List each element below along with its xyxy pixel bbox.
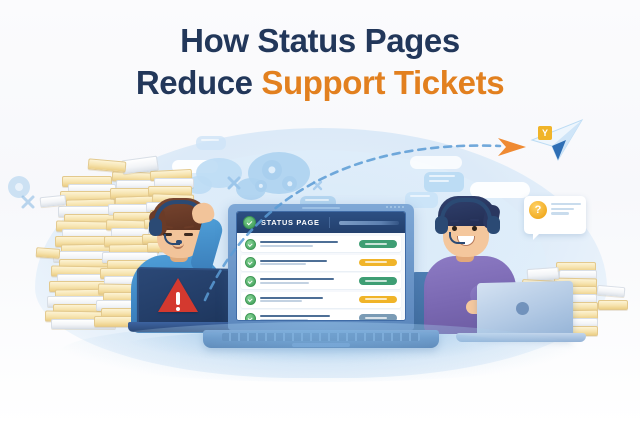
status-badge (359, 296, 397, 304)
close-x-icon (20, 194, 36, 210)
status-row[interactable] (241, 292, 401, 308)
status-row[interactable] (241, 310, 401, 321)
laptop-bezel-dots (386, 206, 404, 208)
check-circle-icon (245, 257, 256, 268)
status-page-screen: STATUS PAGE (236, 211, 406, 321)
check-circle-icon (245, 239, 256, 250)
service-name-placeholder (260, 297, 355, 303)
gear-icon (262, 160, 282, 180)
warning-exclamation (176, 292, 180, 305)
headline-line-1: How Status Pages (0, 22, 640, 60)
status-row[interactable] (241, 255, 401, 271)
check-circle-icon (245, 276, 256, 287)
header-divider (329, 217, 330, 228)
service-name-placeholder (260, 315, 355, 321)
cloud-icon (410, 156, 462, 169)
illustration-canvas: ? STATUS PAGE (0, 0, 640, 427)
paper-plane-icon (528, 118, 584, 162)
status-row[interactable] (241, 236, 401, 252)
headline-line-2-plain: Reduce (136, 64, 262, 101)
question-mark-icon: ? (529, 201, 547, 219)
close-x-icon (312, 178, 323, 189)
headset-earcup (487, 216, 500, 234)
laptop-logo (516, 302, 529, 315)
question-card-lines (551, 201, 581, 215)
agent-eye (184, 233, 193, 236)
headset-earcup (149, 218, 162, 236)
clock-check-icon (243, 216, 256, 229)
gear-icon (255, 180, 267, 192)
headset-mic-tip (176, 240, 182, 244)
status-badge (359, 314, 397, 321)
headset-earcup (435, 216, 448, 234)
service-name-placeholder (260, 260, 355, 266)
status-badge (359, 277, 397, 285)
center-laptop-lid: STATUS PAGE (228, 204, 414, 330)
laptop-camera-notch (302, 207, 340, 209)
service-name-placeholder (260, 241, 355, 247)
headline-line-2-accent: Support Tickets (261, 64, 504, 101)
status-badge (359, 240, 397, 248)
page-title: How Status Pages Reduce Support Tickets (0, 22, 640, 102)
plane-badge: Y (538, 126, 552, 140)
warning-exclamation-dot (176, 307, 180, 311)
close-x-icon (227, 176, 241, 190)
service-name-placeholder (260, 278, 355, 284)
chat-bubble-icon (196, 136, 226, 150)
agent-eye (472, 226, 477, 231)
headline-line-2: Reduce Support Tickets (0, 64, 640, 102)
agent-eye (452, 226, 457, 231)
header-meta-placeholder (339, 221, 399, 225)
status-row[interactable] (241, 273, 401, 289)
check-circle-icon (245, 294, 256, 305)
chat-bubble-icon (424, 172, 464, 192)
status-page-rows (237, 233, 405, 321)
status-badge (359, 259, 397, 267)
question-mark-symbol: ? (529, 201, 547, 219)
status-page-title: STATUS PAGE (261, 218, 320, 227)
gear-icon (282, 176, 297, 191)
question-card: ? (524, 196, 586, 234)
check-circle-icon (245, 313, 256, 322)
floor-reflection-inner (120, 330, 520, 364)
status-page-header: STATUS PAGE (237, 212, 405, 233)
